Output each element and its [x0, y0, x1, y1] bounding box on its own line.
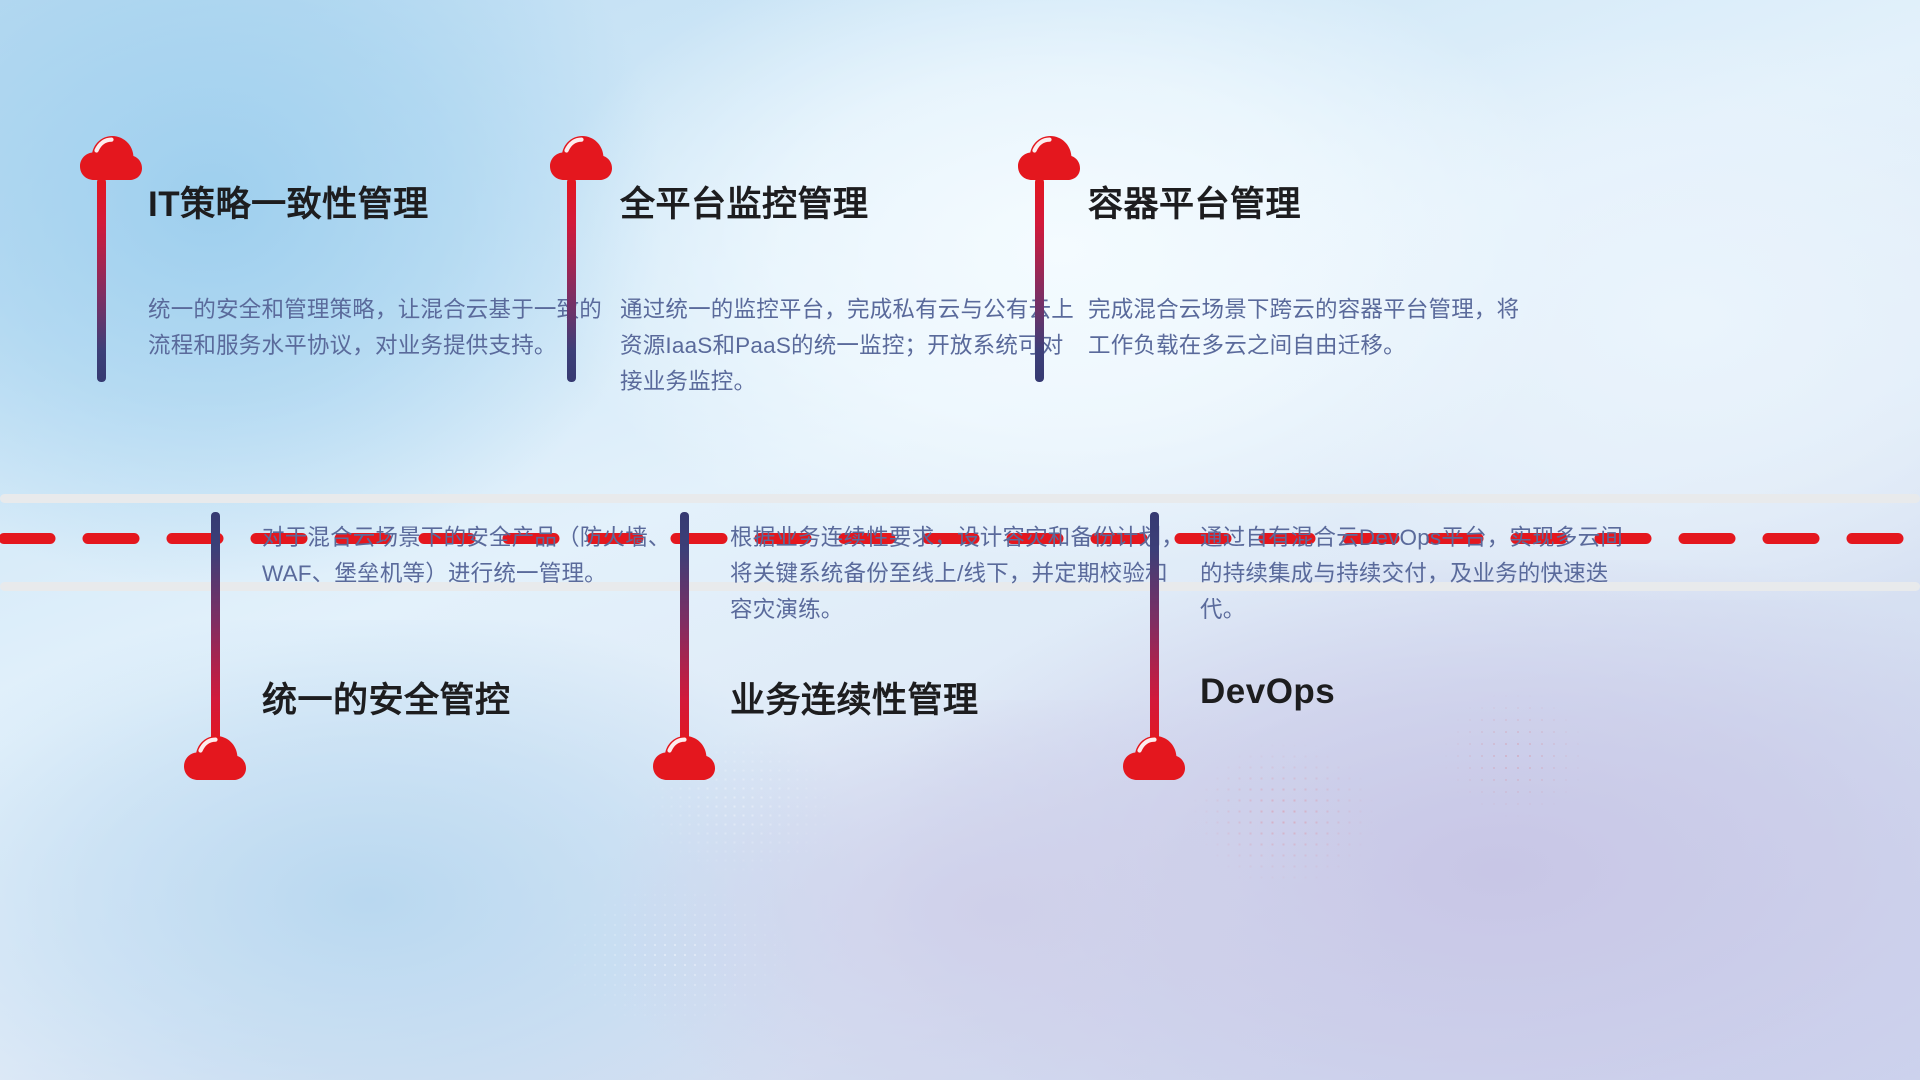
cloud-icon [184, 734, 246, 782]
top-item-2-body: 通过统一的监控平台，完成私有云与公有云上资源IaaS和PaaS的统一监控；开放系… [620, 292, 1080, 400]
top-item-3-body: 完成混合云场景下跨云的容器平台管理，将工作负载在多云之间自由迁移。 [1088, 292, 1528, 364]
cloud-icon [80, 134, 142, 182]
background-dot-texture-c [1440, 690, 1590, 820]
timeline-stem [211, 512, 220, 748]
divider-rail-top [0, 494, 1920, 503]
bottom-item-3-body: 通过自有混合云DevOps平台，实现多云间的持续集成与持续交付，及业务的快速迭代… [1200, 520, 1640, 628]
background-dot-texture-d [560, 880, 790, 1030]
bottom-item-3-heading: DevOps [1200, 672, 1335, 712]
top-item-1-body: 统一的安全和管理策略，让混合云基于一致的流程和服务水平协议，对业务提供支持。 [148, 292, 608, 364]
timeline-stem [1035, 178, 1044, 382]
cloud-icon [1018, 134, 1080, 182]
bottom-item-1-heading: 统一的安全管控 [262, 672, 511, 723]
top-item-2-heading: 全平台监控管理 [620, 176, 869, 227]
background-dot-texture-b [1190, 740, 1380, 890]
bottom-item-2-body: 根据业务连续性要求，设计容灾和备份计划，将关键系统备份至线上/线下，并定期校验和… [730, 520, 1190, 628]
timeline-stem [1150, 512, 1159, 748]
cloud-icon [1123, 734, 1185, 782]
bottom-item-1-body: 对于混合云场景下的安全产品（防火墙、WAF、堡垒机等）进行统一管理。 [262, 520, 722, 592]
top-item-3-heading: 容器平台管理 [1088, 176, 1301, 227]
cloud-icon [653, 734, 715, 782]
timeline-stem [680, 512, 689, 748]
timeline-stem [567, 178, 576, 382]
timeline-stem [97, 178, 106, 382]
top-item-1-heading: IT策略一致性管理 [148, 176, 429, 227]
cloud-icon [550, 134, 612, 182]
bottom-item-2-heading: 业务连续性管理 [730, 672, 979, 723]
